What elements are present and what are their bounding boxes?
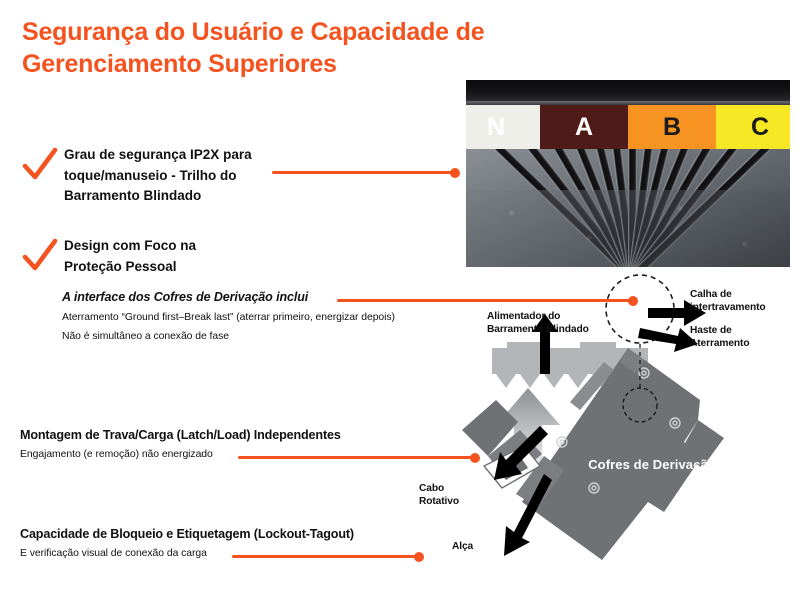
tap-box-body — [516, 348, 724, 560]
diagram-label-line: Alimentador do — [487, 310, 607, 323]
interface-heading: A interface dos Cofres de Derivação incl… — [62, 289, 462, 305]
phase-label-a: A — [540, 105, 628, 149]
bullet-item-ip2x: Grau de segurança IP2X para toque/manuse… — [22, 145, 322, 215]
callout-lockout-tagout-title: Capacidade de Bloqueio e Etiquetagem (Lo… — [20, 526, 420, 542]
diagram-label-line: Cabo — [419, 482, 489, 495]
bullet-line: Grau de segurança IP2X para — [64, 145, 314, 166]
callout-latch-load-title: Montagem de Trava/Carga (Latch/Load) Ind… — [20, 427, 420, 443]
photo-bezel — [466, 80, 790, 102]
diagram-label-line: intertravamento — [690, 301, 790, 314]
interface-block: A interface dos Cofres de Derivação incl… — [62, 289, 462, 345]
phase-label-n: N — [466, 105, 540, 149]
phase-label-c: C — [716, 105, 790, 149]
callout-lockout-tagout-sub: E verificação visual de conexão da carga — [20, 546, 420, 562]
page-title-line-2: Gerenciamento Superiores — [22, 48, 492, 80]
connector-dot-ip2x — [450, 168, 460, 178]
connector-line-latch-load — [238, 456, 476, 459]
diagram-label-cabo-rotativo: Cabo Rotativo — [419, 482, 489, 508]
diagram-label-line: Aterramento — [690, 337, 790, 350]
tap-box-diagram: Alimentador do Barramento Blindado Calha… — [452, 270, 800, 600]
check-icon — [22, 147, 58, 181]
page-title-line-1: Segurança do Usuário e Capacidade de — [22, 16, 492, 48]
diagram-label-calha: Calha de intertravamento — [690, 288, 790, 314]
page-title: Segurança do Usuário e Capacidade de Ger… — [22, 16, 492, 80]
connector-line-ip2x — [272, 171, 456, 174]
bullet-item-design: Design com Foco na Proteção Pessoal — [22, 236, 322, 284]
callout-latch-load-sub: Engajamento (e remoção) não energizado — [20, 447, 420, 463]
bullet-line: Design com Foco na — [64, 236, 314, 257]
bullet-line: Barramento Blindado — [64, 186, 314, 207]
bullet-line: Proteção Pessoal — [64, 257, 314, 278]
diagram-label-line: Calha de — [690, 288, 790, 301]
photo-floor-texture — [466, 190, 790, 267]
phase-label-strip: N A B C — [466, 105, 790, 149]
bullet-line: toque/manuseio - Trilho do — [64, 166, 314, 187]
busbar-phase-labels-photo: N A B C — [466, 80, 790, 267]
diagram-label-haste: Haste de Aterramento — [690, 324, 790, 350]
diagram-label-line: Rotativo — [419, 495, 489, 508]
check-icon — [22, 238, 58, 272]
connector-dot-lockout-tagout — [414, 552, 424, 562]
interface-sub-line-1: Aterramento “Ground first–Break last” (a… — [62, 309, 462, 326]
bullet-item-design-label: Design com Foco na Proteção Pessoal — [64, 236, 314, 277]
diagram-label-alca: Alça — [452, 540, 512, 553]
diagram-label-line: Haste de — [690, 324, 790, 337]
interface-sub-line-2: Não é simultâneo a conexão de fase — [62, 328, 462, 345]
bullet-item-ip2x-label: Grau de segurança IP2X para toque/manuse… — [64, 145, 314, 207]
slide-canvas: Segurança do Usuário e Capacidade de Ger… — [0, 0, 800, 600]
diagram-label-alimentador: Alimentador do Barramento Blindado — [487, 310, 607, 336]
diagram-device-label: Cofres de Derivação — [562, 457, 742, 472]
diagram-label-line: Barramento Blindado — [487, 323, 607, 336]
phase-label-b: B — [628, 105, 716, 149]
connector-line-lockout-tagout — [232, 555, 422, 558]
